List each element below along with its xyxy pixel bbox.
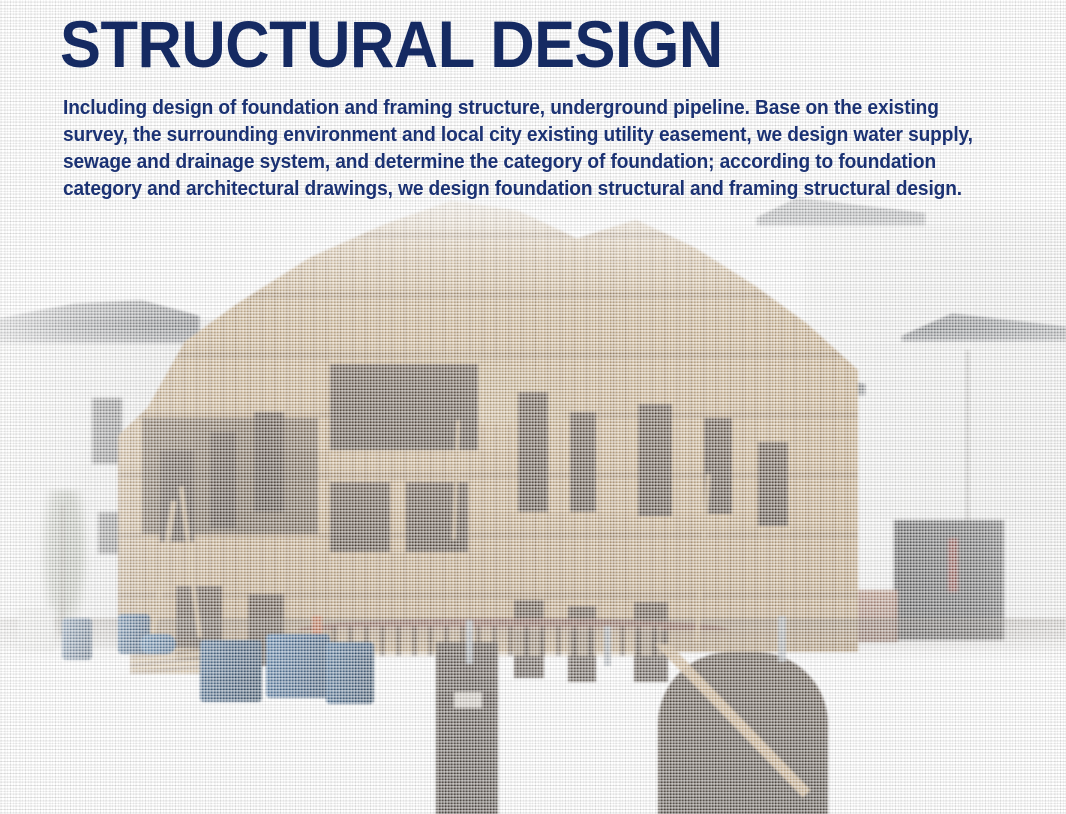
blue-barrel xyxy=(200,640,262,702)
slide-title: STRUCTURAL DESIGN xyxy=(60,11,723,77)
entry-doorway xyxy=(436,642,498,814)
wall-opening xyxy=(210,432,236,528)
blue-barrel xyxy=(326,642,374,704)
bollard xyxy=(466,620,473,664)
wall-opening xyxy=(518,392,548,512)
red-equipment xyxy=(948,538,958,592)
wall-opening xyxy=(330,482,390,552)
wall-opening xyxy=(254,412,284,512)
blue-barrel xyxy=(140,634,176,654)
framed-house xyxy=(118,182,858,652)
site-box xyxy=(18,608,54,652)
presentation-slide: STRUCTURAL DESIGN Including design of fo… xyxy=(0,0,1066,814)
tree-trunk xyxy=(60,505,65,635)
wall-opening xyxy=(406,482,468,552)
slide-body-paragraph: Including design of foundation and frami… xyxy=(63,95,980,203)
diagonal-brace xyxy=(654,644,840,814)
bollard xyxy=(778,616,786,662)
door-permit-sign xyxy=(454,692,482,708)
blue-barrel xyxy=(266,634,330,698)
bollard xyxy=(604,626,611,666)
wall-opening xyxy=(758,442,788,526)
blue-barrel xyxy=(62,618,92,660)
wall-opening xyxy=(638,404,672,516)
wall-opening xyxy=(570,412,596,512)
